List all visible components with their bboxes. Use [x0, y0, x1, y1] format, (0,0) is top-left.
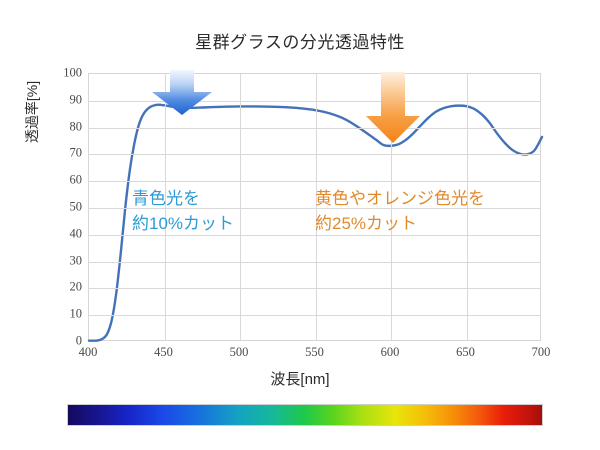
blue-down-arrow-icon	[150, 70, 214, 116]
x-axis-tick-labels: 400450500550600650700	[88, 345, 541, 365]
gridline-horizontal	[89, 262, 540, 263]
orange-annotation: 黄色やオレンジ色光を 約25%カット	[315, 186, 485, 236]
x-tick-label: 500	[209, 345, 269, 360]
y-tick-label: 10	[48, 307, 82, 322]
y-tick-label: 60	[48, 173, 82, 188]
gridline-vertical	[240, 74, 241, 340]
gridline-horizontal	[89, 288, 540, 289]
y-tick-label: 80	[48, 119, 82, 134]
gridline-horizontal	[89, 154, 540, 155]
visible-spectrum-bar	[67, 404, 543, 426]
gridline-horizontal	[89, 128, 540, 129]
y-tick-label: 70	[48, 146, 82, 161]
x-tick-label: 400	[58, 345, 118, 360]
y-tick-label: 20	[48, 280, 82, 295]
y-tick-label: 50	[48, 200, 82, 215]
x-tick-label: 700	[511, 345, 571, 360]
y-tick-label: 40	[48, 226, 82, 241]
x-tick-label: 450	[134, 345, 194, 360]
x-axis-title: 波長[nm]	[0, 368, 600, 389]
chart-title: 星群グラスの分光透過特性	[0, 28, 600, 53]
blue-annotation-line-2: 約10%カット	[132, 211, 234, 236]
x-tick-label: 650	[436, 345, 496, 360]
y-axis-tick-labels: 0102030405060708090100	[42, 73, 82, 341]
orange-annotation-line-1: 黄色やオレンジ色光を	[315, 186, 485, 211]
chart-page: 星群グラスの分光透過特性 透過率[%] 01020304050607080901…	[0, 0, 600, 450]
y-tick-label: 100	[48, 66, 82, 81]
orange-annotation-line-2: 約25%カット	[315, 211, 485, 236]
gridline-horizontal	[89, 181, 540, 182]
y-tick-label: 90	[48, 92, 82, 107]
blue-annotation-line-1: 青色光を	[132, 186, 234, 211]
x-tick-label: 550	[285, 345, 345, 360]
x-tick-label: 600	[360, 345, 420, 360]
orange-down-arrow-icon	[364, 72, 422, 144]
gridline-horizontal	[89, 315, 540, 316]
y-tick-label: 30	[48, 253, 82, 268]
blue-annotation: 青色光を 約10%カット	[132, 186, 234, 236]
y-axis-title: 透過率[%]	[22, 47, 44, 177]
